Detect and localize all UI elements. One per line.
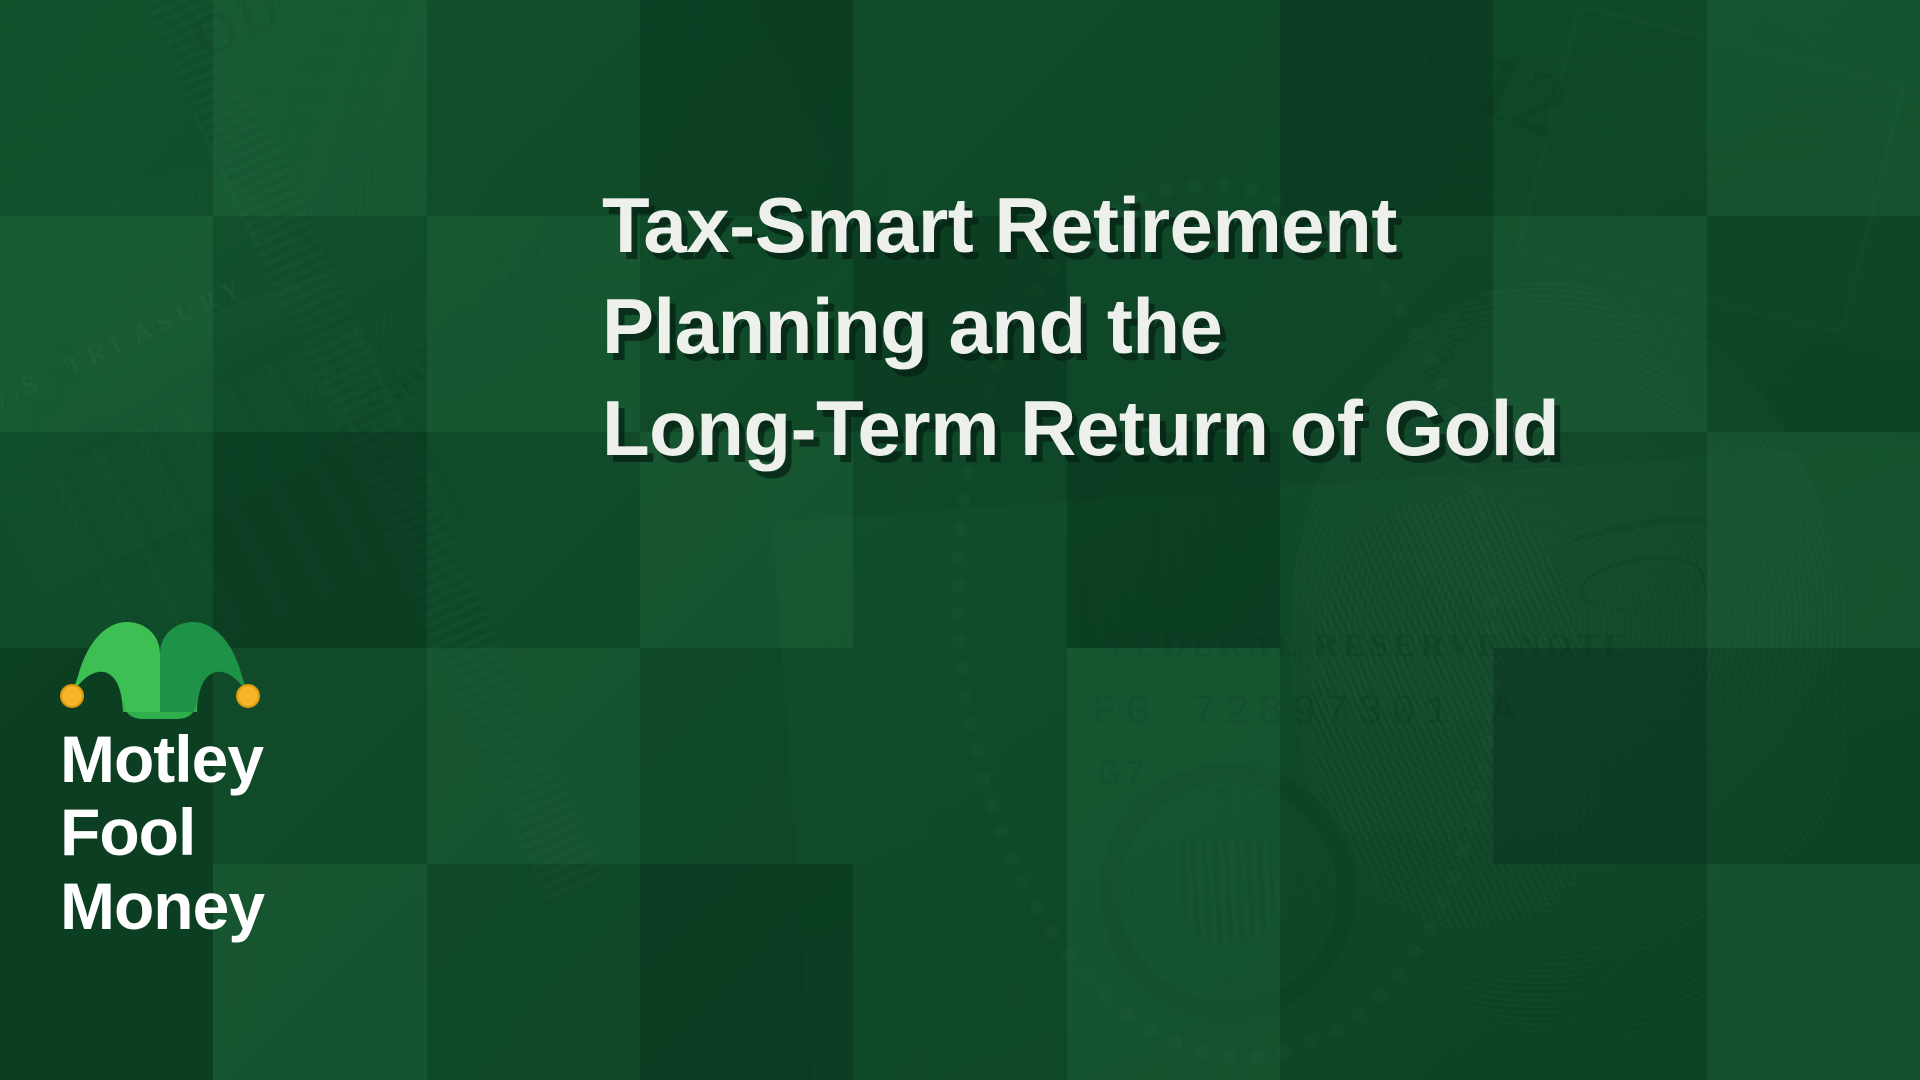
checker-tile (1707, 648, 1920, 864)
brand-word-money: Money (60, 873, 440, 940)
checker-tile (0, 432, 213, 648)
checker-tile (853, 648, 1066, 864)
checker-tile (213, 216, 426, 432)
checker-tile (0, 0, 213, 216)
checker-tile (853, 864, 1066, 1080)
checker-tile (1067, 648, 1280, 864)
checker-tile (1280, 864, 1493, 1080)
episode-cover-card: FEDERAL RESERVE NOTE FG 72897301 A G7 L1… (0, 0, 1920, 1080)
checker-tile (640, 864, 853, 1080)
episode-title-line-2: Planning and the (602, 276, 1902, 377)
episode-title-line-1: Tax-Smart Retirement (602, 175, 1902, 276)
motley-fool-money-logo: Motley Fool Money (60, 620, 440, 940)
checker-tile (1493, 648, 1706, 864)
episode-title: Tax-Smart Retirement Planning and the Lo… (602, 175, 1902, 479)
checker-tile (1280, 648, 1493, 864)
checker-tile (427, 864, 640, 1080)
checker-tile (213, 432, 426, 648)
checker-tile (213, 0, 426, 216)
brand-word-motley: Motley (60, 726, 440, 793)
checker-tile (427, 648, 640, 864)
checker-tile (1707, 864, 1920, 1080)
checker-tile (1067, 864, 1280, 1080)
checker-tile (1493, 864, 1706, 1080)
checker-tile (640, 648, 853, 864)
checker-tile (0, 216, 213, 432)
episode-title-line-3: Long-Term Return of Gold (602, 378, 1902, 479)
brand-word-fool: Fool (60, 799, 440, 866)
jester-hat-icon (60, 620, 260, 720)
